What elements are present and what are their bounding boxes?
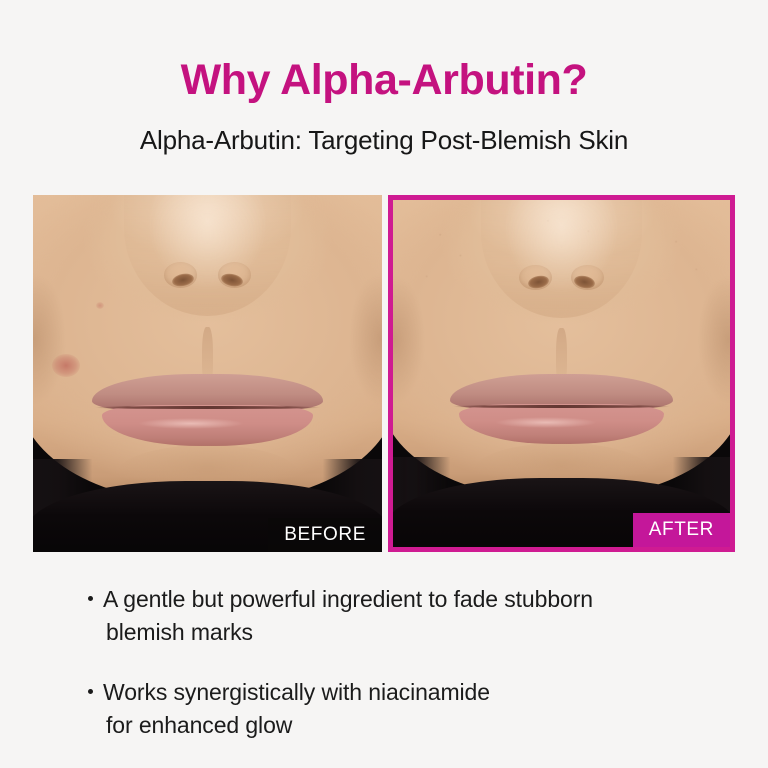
after-photo-frame: AFTER (388, 195, 735, 552)
before-photo (33, 195, 382, 552)
bullet-dot-icon (88, 689, 93, 694)
after-photo (393, 200, 730, 547)
before-after-comparison: BEFORE (33, 195, 735, 552)
benefit-line-1: A gentle but powerful ingredient to fade… (103, 586, 593, 612)
lips (450, 374, 672, 443)
lips (92, 374, 322, 445)
benefit-line-2: for enhanced glow (103, 709, 708, 742)
before-photo-frame: BEFORE (33, 195, 382, 552)
lip-highlight (138, 418, 244, 429)
after-badge: AFTER (633, 513, 730, 547)
promo-graphic: Why Alpha-Arbutin? Alpha-Arbutin: Target… (0, 0, 768, 768)
page-subtitle: Alpha-Arbutin: Targeting Post-Blemish Sk… (0, 124, 768, 156)
page-title: Why Alpha-Arbutin? (0, 54, 768, 106)
lip-highlight (495, 417, 597, 428)
list-item: A gentle but powerful ingredient to fade… (88, 583, 708, 649)
blemish-mark-cheek (52, 354, 80, 377)
benefits-list: A gentle but powerful ingredient to fade… (88, 583, 708, 742)
list-item: Works synergistically with niacinamide f… (88, 676, 708, 742)
bullet-dot-icon (88, 596, 93, 601)
blemish-mark-small (96, 302, 104, 309)
benefit-line-1: Works synergistically with niacinamide (103, 679, 490, 705)
benefit-line-2: blemish marks (103, 616, 708, 649)
before-badge: BEFORE (268, 518, 382, 552)
